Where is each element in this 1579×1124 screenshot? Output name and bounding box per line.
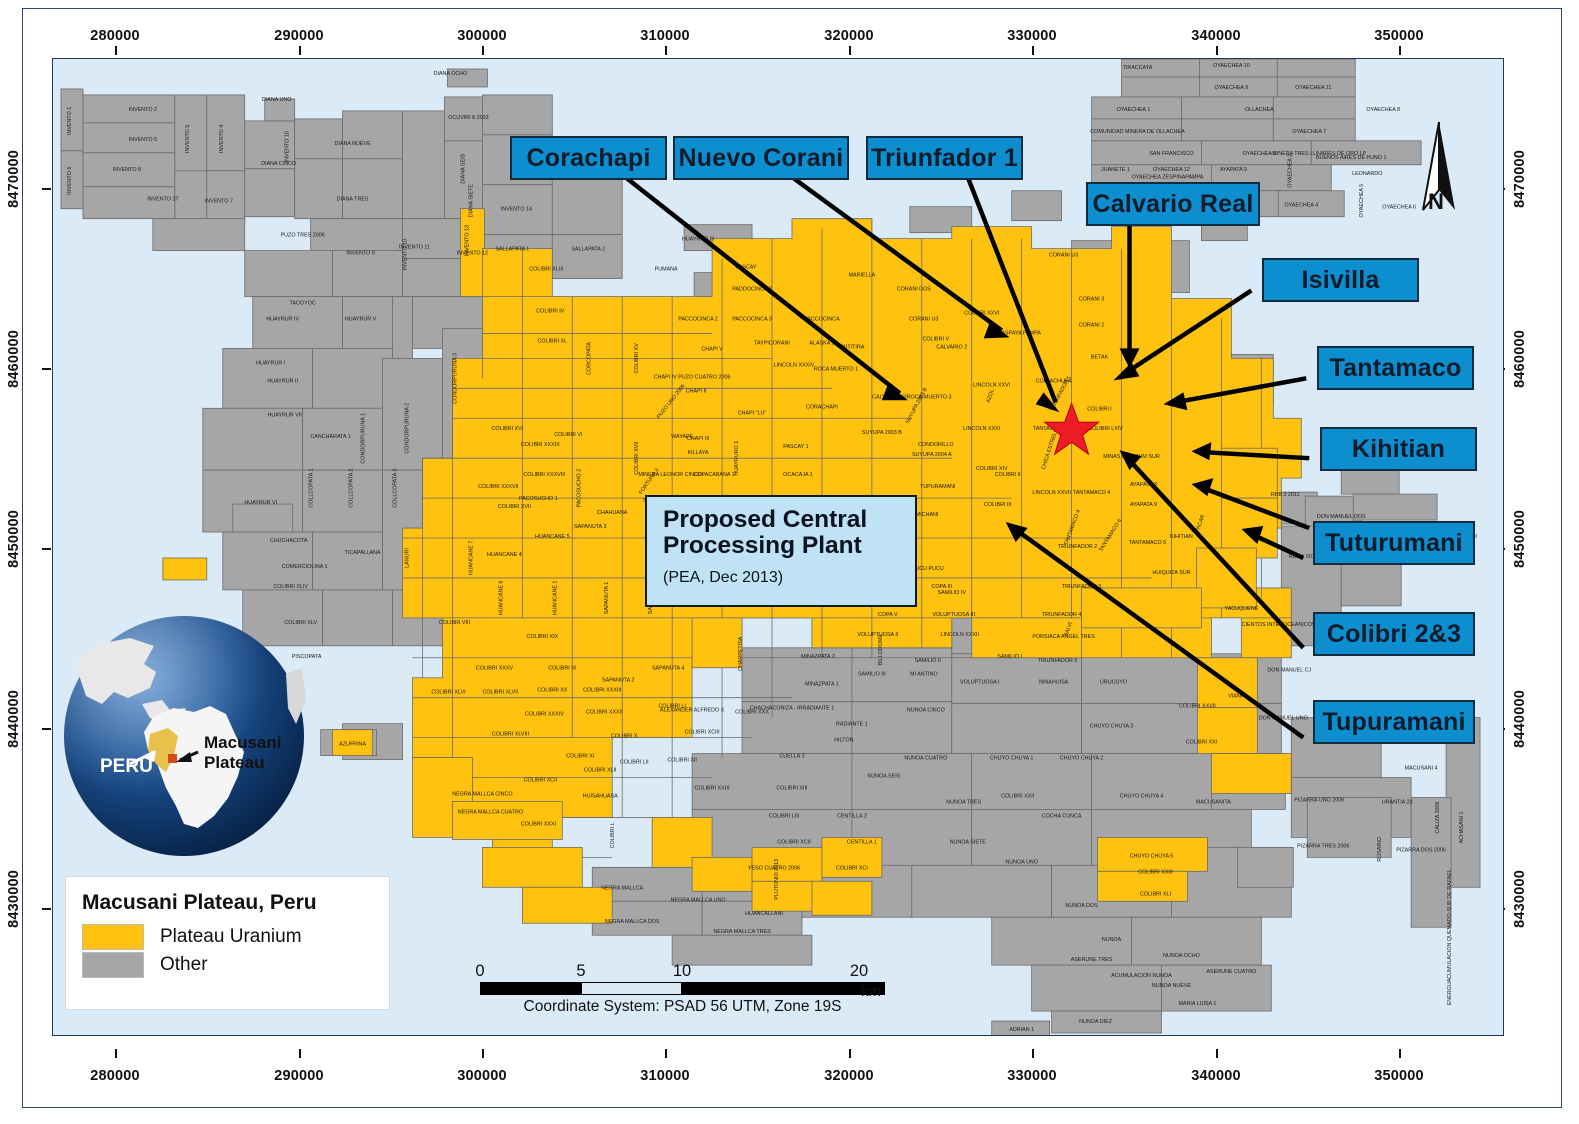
svg-text:ENERGUACUMULACION QUEMADO-SUR: ENERGUACUMULACION QUEMADO-SUR DE RAFAEL (1447, 869, 1453, 1005)
plant-note: (PEA, Dec 2013) (663, 569, 915, 587)
svg-text:COLIBRI XXXIV: COLIBRI XXXIV (525, 712, 564, 718)
x-tick-label: 340000 (1191, 1068, 1241, 1084)
svg-text:COLIBRI XIII: COLIBRI XIII (776, 786, 807, 792)
x-tick (1216, 46, 1218, 55)
x-tick-label: 330000 (1007, 28, 1057, 44)
x-tick-label: 350000 (1374, 1068, 1424, 1084)
legend-swatch-other (82, 952, 144, 978)
svg-text:DIANA OCHO: DIANA OCHO (434, 71, 468, 77)
svg-text:ACHASANI 1: ACHASANI 1 (1459, 811, 1465, 843)
svg-text:COLIBRI XL: COLIBRI XL (538, 338, 568, 344)
y-tick-label: 8470000 (1512, 150, 1528, 208)
x-tick (299, 1049, 301, 1058)
svg-text:NUNOA OCHO: NUNOA OCHO (1163, 953, 1200, 959)
callout-label: Nuevo Corani (679, 144, 844, 173)
legend-label: Other (160, 954, 208, 976)
x-tick-label: 320000 (824, 28, 874, 44)
svg-text:COLIBRI XII: COLIBRI XII (667, 758, 697, 764)
callout-label: Calvario Real (1092, 190, 1253, 219)
svg-text:COLIBRI XCII: COLIBRI XCII (777, 839, 810, 845)
svg-text:COLLCOPATA 3: COLLCOPATA 3 (393, 469, 399, 508)
x-tick (482, 46, 484, 55)
map-legend: Macusani Plateau, Peru Plateau Uranium O… (65, 876, 390, 1010)
legend-item-other: Other (82, 952, 389, 978)
svg-text:COLIBRI XXXIX: COLIBRI XXXIX (521, 442, 560, 448)
x-tick-label: 310000 (640, 28, 690, 44)
svg-text:MACUSANI 4: MACUSANI 4 (1405, 766, 1438, 772)
svg-text:OYAECHEA ZESPINAPAMPA: OYAECHEA ZESPINAPAMPA (1132, 175, 1204, 181)
svg-text:COLIBRI III: COLIBRI III (984, 502, 1011, 508)
x-tick (1399, 1049, 1401, 1058)
svg-text:INVENTO 1: INVENTO 1 (67, 107, 73, 135)
svg-text:MACUSANITA: MACUSANITA (1196, 799, 1231, 805)
svg-text:HUAYRURO 1: HUAYRURO 1 (734, 441, 740, 476)
svg-text:CENTILLA 2: CENTILLA 2 (837, 813, 867, 819)
svg-text:MARIA LUISA 1: MARIA LUISA 1 (1178, 1001, 1216, 1007)
legend-swatch-plateau-uranium (82, 924, 144, 950)
svg-text:TRIUNFADOR 2: TRIUNFADOR 2 (1058, 544, 1097, 550)
svg-text:MARIELLA: MARIELLA (849, 273, 876, 279)
svg-text:NINAHUISA: NINAHUISA (1039, 680, 1069, 686)
callout-tuturumani[interactable]: Tuturumani (1313, 521, 1475, 565)
x-tick (665, 46, 667, 55)
callout-label: Kihitian (1352, 435, 1445, 464)
svg-text:DIANA TRES: DIANA TRES (337, 197, 369, 203)
svg-text:OYAECHEA 4: OYAECHEA 4 (1284, 203, 1318, 209)
x-tick (482, 1049, 484, 1058)
svg-text:COLIBRI V: COLIBRI V (922, 336, 949, 342)
x-tick-label: 310000 (640, 1068, 690, 1084)
y-tick-label: 8470000 (6, 150, 22, 208)
svg-text:VOLUPTUOSA I: VOLUPTUOSA I (960, 680, 999, 686)
svg-text:OCUVIRI 8 2003: OCUVIRI 8 2003 (448, 115, 488, 121)
svg-text:MI ANTINO: MI ANTINO (910, 672, 937, 678)
svg-text:INVENTO 10: INVENTO 10 (285, 131, 291, 162)
svg-text:INVENTO 14: INVENTO 14 (501, 207, 532, 213)
svg-text:NUNOA CINCO: NUNOA CINCO (907, 708, 945, 714)
svg-text:DIANA UNO: DIANA UNO (262, 97, 292, 103)
svg-text:CONDORPURUNA 2: CONDORPURUNA 2 (405, 403, 411, 454)
svg-text:INVENTO 4: INVENTO 4 (219, 125, 225, 153)
svg-text:TANTAMACO 4: TANTAMACO 4 (1073, 490, 1110, 496)
svg-text:SUYUPA 2003 B: SUYUPA 2003 B (862, 430, 902, 436)
callout-tantamaco[interactable]: Tantamaco (1317, 346, 1474, 390)
x-tick (1032, 1049, 1034, 1058)
callout-label: Tuturumani (1325, 529, 1463, 558)
y-tick (42, 908, 51, 910)
x-tick (1399, 46, 1401, 55)
svg-text:HUANCANE 1: HUANCANE 1 (552, 581, 558, 616)
svg-text:COLIBRI XVII: COLIBRI XVII (634, 442, 640, 475)
svg-text:CUELLA 3: CUELLA 3 (779, 754, 804, 760)
svg-text:COLIBRI XXXVII: COLIBRI XXXVII (478, 484, 518, 490)
svg-text:SAPANUTA 1: SAPANUTA 1 (604, 582, 610, 614)
svg-text:COMUNIDAD MINERA DE OLLACHEA: COMUNIDAD MINERA DE OLLACHEA (1090, 129, 1185, 135)
svg-text:RADIANTE 1: RADIANTE 1 (836, 722, 868, 728)
svg-text:TAYPICORANI: TAYPICORANI (754, 340, 790, 346)
svg-text:KIHITIAN: KIHITIAN (1170, 534, 1193, 540)
svg-text:CORANI U3: CORANI U3 (1049, 253, 1078, 259)
svg-text:COLLCOPATA 1: COLLCOPATA 1 (309, 469, 315, 508)
svg-text:NEGRA MALLCA: NEGRA MALLCA (601, 885, 643, 891)
svg-text:INVENTO 13: INVENTO 13 (464, 225, 470, 256)
svg-text:INVENTO 7: INVENTO 7 (205, 199, 233, 205)
svg-text:NEGRA MALLCA TRES: NEGRA MALLCA TRES (713, 929, 771, 935)
callout-label: Colibri 2&3 (1327, 620, 1461, 649)
x-tick-label: 350000 (1374, 28, 1424, 44)
svg-text:WAYAPE: WAYAPE (671, 434, 693, 440)
svg-text:COLIBRI XXVII: COLIBRI XXVII (1179, 704, 1216, 710)
svg-text:PIZARRA DOS 2006: PIZARRA DOS 2006 (1396, 847, 1446, 853)
svg-text:NEGRA MALLCA DOS: NEGRA MALLCA DOS (605, 919, 660, 925)
y-tick-label: 8460000 (6, 330, 22, 388)
svg-text:ASERUNE TRES: ASERUNE TRES (1071, 957, 1113, 963)
svg-text:NUNOA NUEVE: NUNOA NUEVE (1152, 983, 1192, 989)
svg-text:SAMILIO IV: SAMILIO IV (938, 590, 967, 596)
svg-text:NUNOA SIETE: NUNOA SIETE (950, 839, 987, 845)
callout-kihitian[interactable]: Kihitian (1320, 427, 1477, 471)
svg-text:AYAPATA 9: AYAPATA 9 (1220, 167, 1247, 173)
svg-text:SAPANUTA 3: SAPANUTA 3 (574, 524, 606, 530)
svg-text:SALLAPATA 2: SALLAPATA 2 (571, 247, 605, 253)
svg-text:PLUTONIO 2013: PLUTONIO 2013 (774, 859, 780, 900)
y-tick-label: 8430000 (6, 870, 22, 928)
svg-text:OYAECHEA 3: OYAECHEA 3 (1243, 151, 1277, 157)
svg-text:CHUYO CHUYA 1: CHUYO CHUYA 1 (990, 756, 1034, 762)
svg-text:LINCOLN XXVII: LINCOLN XXVII (1032, 490, 1071, 496)
svg-text:HUANCANE 5: HUANCANE 5 (535, 534, 570, 540)
svg-text:COLIBRI XXXV: COLIBRI XXXV (476, 666, 514, 672)
svg-text:COLIBRI XXXI: COLIBRI XXXI (521, 821, 556, 827)
svg-text:CHUYO CHUYA 5: CHUYO CHUYA 5 (1130, 853, 1174, 859)
svg-text:COLIBRI XXXIII: COLIBRI XXXIII (583, 688, 621, 694)
svg-text:COLIBRI VIII: COLIBRI VIII (439, 620, 470, 626)
svg-text:HUAYRUR II: HUAYRUR II (267, 378, 298, 384)
svg-text:COLIBRI XXIII: COLIBRI XXIII (1138, 869, 1173, 875)
svg-text:HUISAHUASA: HUISAHUASA (583, 793, 618, 799)
svg-text:COLIBRI XXII: COLIBRI XXII (1001, 793, 1034, 799)
plant-title-line2: Processing Plant (663, 533, 915, 559)
globe-site-label-line1: Macusani (204, 733, 281, 752)
x-tick-label: 290000 (274, 1068, 324, 1084)
svg-text:CALVARIO 2: CALVARIO 2 (936, 344, 967, 350)
svg-text:ROSARIO: ROSARIO (1377, 837, 1383, 862)
y-tick (42, 188, 51, 190)
svg-text:CHAPI IV PUZO CUATRO 2006: CHAPI IV PUZO CUATRO 2006 (654, 374, 731, 380)
callout-label: Tantamaco (1330, 354, 1462, 383)
svg-text:SAPANUTA 4: SAPANUTA 4 (652, 666, 684, 672)
svg-text:KILLAYA: KILLAYA (688, 450, 709, 456)
svg-text:CORANI 3: CORANI 3 (1079, 297, 1104, 303)
svg-text:CORACHAPI: CORACHAPI (806, 404, 838, 410)
svg-text:CORCOPATA: CORCOPATA (586, 342, 592, 375)
svg-text:COLIBRI XVI: COLIBRI XVI (492, 426, 524, 432)
svg-text:CHUCHACOTA: CHUCHACOTA (270, 538, 308, 544)
svg-text:DIANA SEIS: DIANA SEIS (460, 153, 466, 183)
callout-label: Tupuramani (1322, 708, 1465, 737)
svg-text:DIANA SIETE: DIANA SIETE (468, 184, 474, 218)
svg-text:BILLODOME: BILLODOME (878, 634, 884, 666)
svg-text:COPACABANA 1: COPACABANA 1 (694, 472, 735, 478)
svg-text:HUAYRUR VI: HUAYRUR VI (244, 500, 277, 506)
svg-text:HILTON: HILTON (834, 738, 853, 744)
callout-calvario-real[interactable]: Calvario Real (1086, 182, 1260, 226)
svg-text:TRIUNFADOR 5: TRIUNFADOR 5 (1038, 658, 1077, 664)
svg-text:INVENTO 5: INVENTO 5 (185, 125, 191, 153)
svg-text:PACCOCINCA 3: PACCOCINCA 3 (732, 316, 772, 322)
svg-text:ADRIAN 1: ADRIAN 1 (1009, 1027, 1034, 1033)
legend-item-plateau-uranium: Plateau Uranium (82, 924, 389, 950)
svg-text:COLIBRI XLIII: COLIBRI XLIII (529, 267, 563, 273)
svg-text:HUANCANE 6: HUANCANE 6 (498, 581, 504, 616)
svg-text:INVENTO 2: INVENTO 2 (129, 107, 157, 113)
scale-bar: 0 5 10 20 km Coordinate System: PSAD 56 … (480, 962, 885, 995)
svg-text:PACCOCINCA 2: PACCOCINCA 2 (678, 316, 718, 322)
svg-text:ACUMULACION NUNOA: ACUMULACION NUNOA (1111, 973, 1172, 979)
svg-text:HUANCANE 7: HUANCANE 7 (468, 541, 474, 576)
y-tick-label: 8430000 (1512, 870, 1528, 928)
x-tick-label: 340000 (1191, 28, 1241, 44)
svg-text:OYAECHEA 8: OYAECHEA 8 (1366, 107, 1400, 113)
svg-text:NUNOA CUATRO: NUNOA CUATRO (904, 756, 947, 762)
svg-text:COLIBRI X: COLIBRI X (611, 734, 638, 740)
svg-text:CONDORPURUNA 3: CONDORPURUNA 3 (452, 353, 458, 404)
x-tick-label: 330000 (1007, 1068, 1057, 1084)
svg-text:MINAZPATA 2: MINAZPATA 2 (801, 654, 835, 660)
svg-text:INVENTO 6: INVENTO 6 (67, 167, 73, 195)
callout-label: Corachapi (526, 144, 650, 173)
svg-text:COLIBRI I: COLIBRI I (1087, 406, 1112, 412)
svg-text:TACOYOC: TACOYOC (290, 300, 316, 306)
svg-text:SALLAPATA 1: SALLAPATA 1 (495, 247, 529, 253)
svg-text:SAPANUTA 2: SAPANUTA 2 (602, 678, 634, 684)
svg-text:CANCHARATA 1: CANCHARATA 1 (310, 434, 350, 440)
x-tick (1032, 46, 1034, 55)
svg-text:INVENTO 12: INVENTO 12 (457, 251, 488, 257)
svg-text:BETAK: BETAK (1091, 354, 1109, 360)
svg-text:HUANCALLANI: HUANCALLANI (745, 911, 783, 917)
svg-text:SAN FRANCISCO: SAN FRANCISCO (1149, 151, 1193, 157)
svg-text:OYAECHEA 10: OYAECHEA 10 (1213, 63, 1250, 69)
svg-text:CORANI 2: CORANI 2 (1079, 322, 1104, 328)
svg-text:OYAECHEA 1: OYAECHEA 1 (1117, 107, 1151, 113)
svg-text:LINCOLN XXXI: LINCOLN XXXI (963, 426, 1000, 432)
x-tick (849, 46, 851, 55)
y-tick-label: 8450000 (1512, 510, 1528, 568)
svg-text:COLIBRI XCI: COLIBRI XCI (836, 865, 868, 871)
svg-text:NEGRA MALLCA UNO: NEGRA MALLCA UNO (671, 897, 726, 903)
svg-text:COLIBRI XXXVIII: COLIBRI XXXVIII (523, 472, 565, 478)
svg-text:SAMILIO I: SAMILIO I (997, 654, 1022, 660)
scale-tick-label: 5 (576, 962, 585, 981)
x-tick-label: 300000 (457, 1068, 507, 1084)
callout-label: Triunfador 1 (871, 144, 1018, 173)
svg-text:PIZARRA TRES 2006: PIZARRA TRES 2006 (1297, 843, 1349, 849)
y-tick-label: 8460000 (1512, 330, 1528, 388)
svg-text:HUAYRUR V: HUAYRUR V (345, 316, 377, 322)
svg-text:CHUYO CHUYA 4: CHUYO CHUYA 4 (1120, 793, 1164, 799)
svg-text:SAMILIO II: SAMILIO II (915, 658, 941, 664)
svg-text:COLIBRI XVII: COLIBRI XVII (498, 504, 531, 510)
svg-text:COLIBRI LXIV: COLIBRI LXIV (1088, 426, 1123, 432)
svg-text:INVENTO 8: INVENTO 8 (113, 167, 141, 173)
svg-text:TICAPALLANA: TICAPALLANA (345, 550, 381, 556)
x-tick-label: 300000 (457, 28, 507, 44)
x-tick-label: 290000 (274, 28, 324, 44)
callout-nuevo-corani[interactable]: Nuevo Corani (673, 136, 849, 180)
svg-text:CONDORPURUNA 1: CONDORPURUNA 1 (361, 413, 367, 464)
svg-text:PIZARRA UNO 2006: PIZARRA UNO 2006 (1294, 797, 1344, 803)
svg-text:COPA V: COPA V (878, 612, 898, 618)
proposed-central-processing-plant-callout[interactable]: Proposed Central Processing Plant (PEA, … (645, 495, 917, 607)
svg-text:COLIBRI XIX: COLIBRI XIX (526, 634, 558, 640)
svg-text:COLLCOPATA 2: COLLCOPATA 2 (349, 469, 355, 508)
svg-text:CONDORILLO: CONDORILLO (918, 442, 954, 448)
svg-text:CHUYO CHUYA 3: CHUYO CHUYA 3 (1090, 724, 1134, 730)
x-tick-label: 280000 (90, 1068, 140, 1084)
scale-bar-ticks: 0 5 10 20 (480, 962, 885, 982)
svg-text:DON MANUEL DOS: DON MANUEL DOS (1317, 514, 1366, 520)
svg-text:CORANI U3: CORANI U3 (909, 316, 938, 322)
svg-text:NEGRA MALLCA CUATRO: NEGRA MALLCA CUATRO (458, 809, 523, 815)
svg-text:DIANA NUEVE: DIANA NUEVE (335, 141, 372, 147)
svg-text:SUYUPA 2004 A: SUYUPA 2004 A (912, 452, 952, 458)
svg-text:PUZO TRES 2006: PUZO TRES 2006 (281, 233, 325, 239)
svg-text:INVENTO 5: INVENTO 5 (129, 137, 157, 143)
svg-text:COLIBRI VI: COLIBRI VI (554, 432, 582, 438)
svg-text:COLIBRI XCII: COLIBRI XCII (524, 778, 557, 784)
globe-site-label-line2: Plateau (204, 753, 264, 772)
plant-title-line1: Proposed Central (663, 507, 915, 533)
svg-text:NUNOA DOS: NUNOA DOS (1065, 903, 1098, 909)
svg-text:INVENTO 17: INVENTO 17 (147, 197, 178, 203)
x-tick (299, 46, 301, 55)
svg-text:LANURI: LANURI (405, 548, 411, 568)
svg-text:NUNOA SEIS: NUNOA SEIS (867, 774, 900, 780)
svg-text:COLIBRI XX: COLIBRI XX (537, 688, 568, 694)
svg-text:COLIBRI XCIII: COLIBRI XCIII (685, 730, 720, 736)
svg-text:NUNOA DIEZ: NUNOA DIEZ (1079, 1019, 1113, 1025)
svg-text:LEONARDO: LEONARDO (1352, 171, 1382, 177)
x-tick-label: 280000 (90, 28, 140, 44)
coordinate-system-label: Coordinate System: PSAD 56 UTM, Zone 19S (480, 998, 885, 1016)
svg-text:CHAPI II: CHAPI II (686, 388, 707, 394)
svg-text:COLIBRI XXI: COLIBRI XXI (1186, 740, 1218, 746)
svg-text:COMERCIOLINA 1: COMERCIOLINA 1 (282, 564, 328, 570)
svg-text:ASERUNE CUATRO: ASERUNE CUATRO (1206, 969, 1256, 975)
legend-label: Plateau Uranium (160, 926, 302, 948)
north-label: N (1428, 189, 1444, 215)
svg-text:INVENTO 11: INVENTO 11 (399, 245, 430, 251)
svg-text:LINCOLN XXXIV: LINCOLN XXXIV (774, 362, 815, 368)
svg-text:TANTAMACO 5: TANTAMACO 5 (1129, 540, 1166, 546)
svg-text:COLIBRI XXIX: COLIBRI XXIX (694, 786, 730, 792)
svg-text:CALIZA 2006: CALIZA 2006 (1435, 801, 1441, 833)
svg-text:AZUFRINA: AZUFRINA (339, 742, 366, 748)
svg-text:COLIBRI IX: COLIBRI IX (548, 666, 577, 672)
svg-text:COLIBRI XV: COLIBRI XV (634, 343, 640, 374)
globe-inset: PERU Macusani Plateau (58, 612, 310, 860)
svg-text:LINCOLN XXXII: LINCOLN XXXII (940, 632, 979, 638)
svg-text:LINCOLN XXVI: LINCOLN XXVI (973, 382, 1010, 388)
svg-text:COLIBRI II: COLIBRI II (995, 472, 1021, 478)
map-page: 280000 290000 300000 310000 320000 33000… (0, 0, 1579, 1124)
y-tick-label: 8440000 (1512, 690, 1528, 748)
svg-text:INVENTO 9: INVENTO 9 (346, 251, 374, 257)
svg-text:PACOSUCHO 2: PACOSUCHO 2 (576, 469, 582, 508)
callout-corachapi[interactable]: Corachapi (510, 136, 667, 180)
svg-text:COLIBRI LIII: COLIBRI LIII (769, 813, 799, 819)
y-tick-label: 8450000 (6, 510, 22, 568)
svg-text:COLIBRI XLVI: COLIBRI XLVI (431, 690, 465, 696)
svg-text:TRIUNFADOR 4: TRIUNFADOR 4 (1042, 612, 1081, 618)
svg-text:HUIQUIZA SUR: HUIQUIZA SUR (1152, 570, 1190, 576)
svg-text:COLIBRI XLVIII: COLIBRI XLVIII (492, 732, 529, 738)
callout-triunfador-1[interactable]: Triunfador 1 (866, 136, 1023, 180)
svg-text:COCHA CUNCA: COCHA CUNCA (1042, 813, 1082, 819)
x-tick (115, 46, 117, 55)
svg-text:PASCAY 1: PASCAY 1 (783, 444, 808, 450)
scale-tick-label: 10 (673, 962, 691, 981)
scale-tick-label: 20 (850, 962, 868, 981)
y-tick (42, 548, 51, 550)
svg-text:DIANA CINCO: DIANA CINCO (261, 161, 296, 167)
scale-bar-graphic (480, 982, 885, 995)
svg-text:NUNOA TRES: NUNOA TRES (946, 799, 981, 805)
svg-text:COLIBRI XI: COLIBRI XI (566, 754, 594, 760)
svg-text:OYAECHEA 11: OYAECHEA 11 (1295, 85, 1331, 91)
svg-text:TUPURAMANI: TUPURAMANI (920, 484, 956, 490)
svg-text:CHAHUANA: CHAHUANA (597, 510, 628, 516)
svg-text:CHARPETISA: CHARPETISA (738, 636, 744, 671)
svg-text:HUANCANE 4: HUANCANE 4 (487, 552, 522, 558)
x-tick (665, 1049, 667, 1058)
callout-tupuramani[interactable]: Tupuramani (1313, 700, 1475, 744)
svg-text:COLIBRI XLVII: COLIBRI XLVII (483, 690, 519, 696)
svg-text:URANTIA 23: URANTIA 23 (1382, 799, 1413, 805)
callout-colibri-2-3[interactable]: Colibri 2&3 (1313, 612, 1475, 656)
svg-text:OYAECHEA 12: OYAECHEA 12 (1153, 167, 1190, 173)
svg-text:COLIBRI LII: COLIBRI LII (620, 760, 649, 766)
x-tick (1216, 1049, 1218, 1058)
svg-text:CHAPI "LU": CHAPI "LU" (738, 410, 767, 416)
y-tick-label: 8440000 (6, 690, 22, 748)
legend-title: Macusani Plateau, Peru (82, 891, 389, 915)
svg-text:ROCA MUERTO 1: ROCA MUERTO 1 (814, 366, 858, 372)
svg-text:RBB 3 2011: RBB 3 2011 (1271, 492, 1300, 498)
svg-text:VOLUPTUOSA III: VOLUPTUOSA III (933, 612, 975, 618)
svg-text:MINAZPATA 1: MINAZPATA 1 (805, 682, 839, 688)
svg-text:CHAPI V: CHAPI V (701, 346, 723, 352)
svg-text:JUANETE 1: JUANETE 1 (1101, 167, 1130, 173)
x-tick (115, 1049, 117, 1058)
svg-text:BUENOS AIRES DE PUNO 1: BUENOS AIRES DE PUNO 1 (1316, 155, 1387, 161)
svg-text:YACUQUENE: YACUQUENE (1225, 606, 1259, 612)
svg-text:DON MANUEL CJ: DON MANUEL CJ (1267, 668, 1311, 674)
svg-text:COLIBRI XLII: COLIBRI XLII (584, 768, 617, 774)
svg-text:NUNOA: NUNOA (1102, 937, 1122, 943)
svg-text:NEGRA MALLCA CINCO: NEGRA MALLCA CINCO (452, 791, 512, 797)
svg-text:COLIBRI XXXII: COLIBRI XXXII (586, 710, 623, 716)
svg-text:OYAECHEA 7: OYAECHEA 7 (1292, 129, 1326, 135)
x-tick-label: 320000 (824, 1068, 874, 1084)
svg-text:COLIBRI L: COLIBRI L (610, 822, 616, 848)
callout-isivilla[interactable]: Isivilla (1262, 258, 1419, 302)
y-tick (42, 728, 51, 730)
svg-text:OYAECHEA 5: OYAECHEA 5 (1359, 184, 1365, 218)
globe-country-label: PERU (100, 756, 153, 777)
svg-text:HUAYRUR I: HUAYRUR I (256, 360, 285, 366)
